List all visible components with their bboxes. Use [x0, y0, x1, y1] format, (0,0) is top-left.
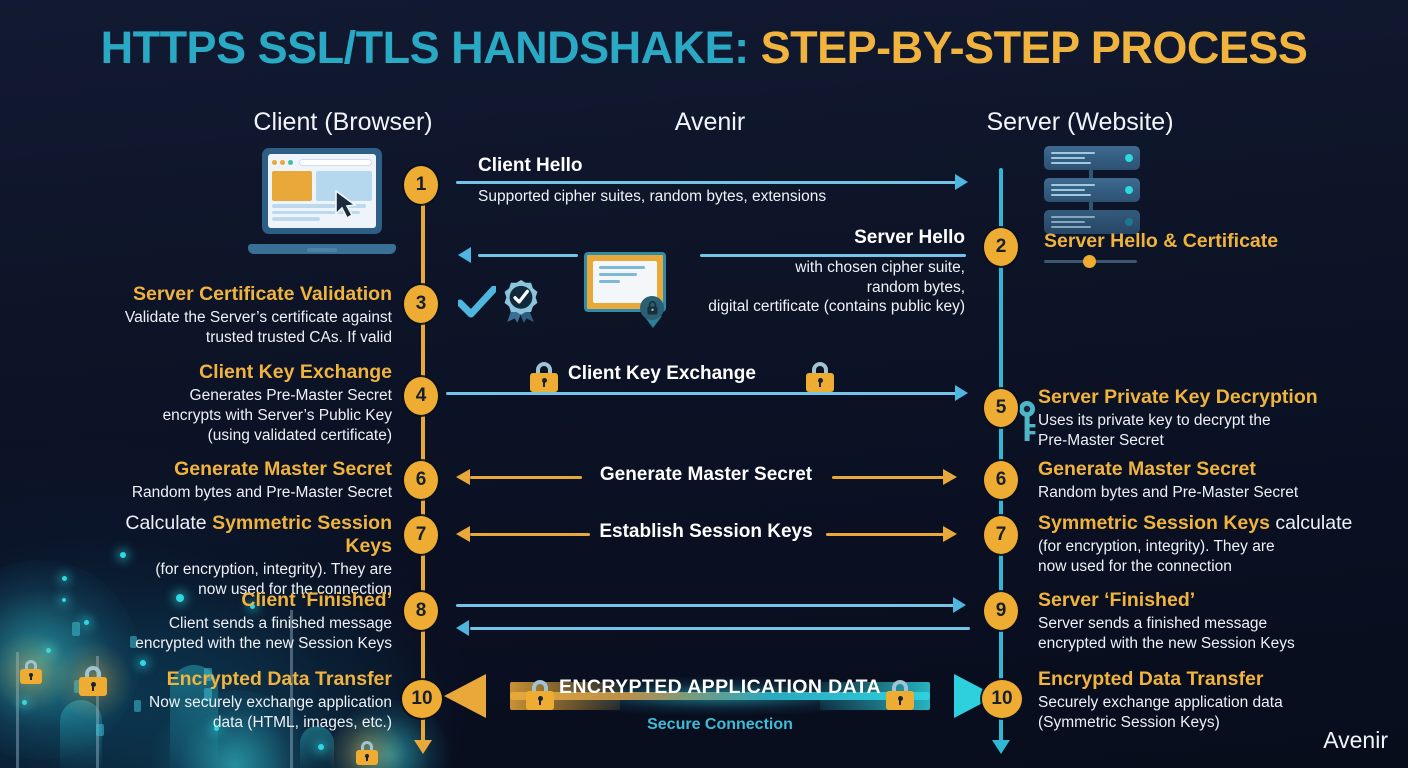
left-step-4-desc-2: encrypts with Server’s Public Key	[92, 406, 392, 426]
right-step-9-desc-2: encrypted with the new Session Keys	[1038, 634, 1368, 654]
title-part-1: HTTPS SSL/TLS HANDSHAKE:	[101, 22, 749, 73]
arrow-line-step-8	[456, 604, 956, 607]
arrow-head-step-4	[955, 385, 968, 401]
badge-step-4: 4	[404, 377, 438, 415]
badge-step-7-client: 7	[404, 516, 438, 554]
verified-badge-icon	[500, 278, 542, 324]
message-establish-session-keys-label: Establish Session Keys	[596, 522, 816, 543]
badge-step-10-client: 10	[402, 680, 442, 718]
message-client-hello: Client Hello	[478, 156, 978, 177]
server-caption-dot	[1083, 255, 1096, 268]
mouse-cursor-icon	[334, 190, 360, 220]
arrow-head-step-9	[456, 620, 469, 636]
message-client-hello-desc: Supported cipher suites, random bytes, e…	[478, 187, 998, 207]
left-step-7-title-accent: Symmetric Session Keys	[212, 512, 392, 557]
arrow-head-step-8	[953, 597, 966, 613]
certificate-icon	[584, 252, 666, 318]
arrow-line-step-4	[446, 392, 958, 395]
badge-step-6-server: 6	[984, 461, 1018, 499]
arrow-line-step-9	[470, 627, 970, 630]
left-step-3-desc-2: trusted trusted CAs. If valid	[92, 328, 392, 348]
arrow-head-step-6-left	[456, 469, 470, 485]
right-step-6-title: Generate Master Secret	[1038, 458, 1368, 481]
left-step-4-desc-3: (using validated certificate)	[92, 426, 392, 446]
left-step-symmetric-session-keys: Calculate Symmetric Session Keys (for en…	[92, 512, 392, 600]
right-step-7-title-suffix: calculate	[1270, 512, 1352, 534]
message-client-key-exchange: Client Key Exchange	[568, 364, 828, 385]
server-icon-caption: Server Hello & Certificate	[1044, 230, 1278, 253]
right-step-6-desc-1: Random bytes and Pre-Master Secret	[1038, 483, 1368, 503]
left-step-generate-master-secret: Generate Master Secret Random bytes and …	[92, 458, 392, 503]
right-step-5-desc-2: Pre-Master Secret	[1038, 431, 1368, 451]
badge-step-9: 9	[984, 592, 1018, 630]
arrow-line-step-2a	[478, 254, 578, 257]
badge-step-6-client: 6	[404, 461, 438, 499]
left-step-4-desc-1: Generates Pre-Master Secret	[92, 386, 392, 406]
arrow-line-step-7-right	[826, 533, 944, 536]
left-step-client-finished: Client ‘Finished’ Client sends a finishe…	[92, 589, 392, 654]
right-step-symmetric-session-keys: Symmetric Session Keys calculate (for en…	[1038, 512, 1368, 577]
arrow-head-step-2	[458, 247, 471, 263]
message-client-hello-label: Client Hello	[478, 156, 978, 177]
server-rack-icon	[1044, 146, 1140, 234]
left-step-6-title: Generate Master Secret	[92, 458, 392, 481]
private-key-icon	[1016, 400, 1038, 444]
badge-step-1: 1	[404, 166, 438, 204]
message-server-hello-label: Server Hello	[660, 228, 965, 249]
message-generate-master-secret: Generate Master Secret	[590, 465, 822, 486]
right-step-encrypted-data-transfer: Encrypted Data Transfer Securely exchang…	[1038, 668, 1368, 733]
badge-step-7-server: 7	[984, 516, 1018, 554]
column-header-server: Server (Website)	[890, 108, 1270, 137]
message-server-hello-desc-1: with chosen cipher suite,	[645, 258, 965, 278]
right-step-7-desc-1: (for encryption, integrity). They are	[1038, 537, 1368, 557]
decorative-lock-icon-1	[14, 655, 48, 689]
arrow-line-step-6-left	[470, 476, 582, 479]
left-step-3-title: Server Certificate Validation	[92, 283, 392, 306]
channel-label: ENCRYPTED APPLICATION DATA	[430, 676, 1010, 699]
right-step-10-desc-1: Securely exchange application data	[1038, 693, 1368, 713]
left-step-7-desc-1: (for encryption, integrity). They are	[92, 560, 392, 580]
badge-step-5: 5	[984, 389, 1018, 427]
arrow-line-step-7-left	[470, 533, 590, 536]
left-step-10-desc-2: data (HTML, images, etc.)	[92, 713, 392, 733]
left-step-8-desc-1: Client sends a finished message	[92, 614, 392, 634]
infographic-canvas: HTTPS SSL/TLS HANDSHAKE: STEP-BY-STEP PR…	[0, 0, 1408, 768]
left-step-8-title: Client ‘Finished’	[92, 589, 392, 612]
left-step-encrypted-data-transfer: Encrypted Data Transfer Now securely exc…	[92, 668, 392, 733]
badge-step-2: 2	[984, 228, 1018, 266]
right-step-9-desc-1: Server sends a finished message	[1038, 614, 1368, 634]
column-header-center: Avenir	[625, 108, 795, 137]
title-part-2: STEP-BY-STEP PROCESS	[761, 22, 1308, 73]
right-step-private-key-decryption: Server Private Key Decryption Uses its p…	[1038, 386, 1368, 451]
badge-step-3: 3	[404, 285, 438, 323]
message-generate-master-secret-label: Generate Master Secret	[590, 465, 822, 486]
right-step-server-finished: Server ‘Finished’ Server sends a finishe…	[1038, 589, 1368, 654]
brand-watermark: Avenir	[1323, 727, 1388, 754]
right-step-5-title: Server Private Key Decryption	[1038, 386, 1368, 409]
left-step-10-desc-1: Now securely exchange application	[92, 693, 392, 713]
left-step-10-title: Encrypted Data Transfer	[92, 668, 392, 691]
arrow-head-step-7-left	[456, 526, 470, 542]
message-client-key-exchange-label: Client Key Exchange	[568, 364, 828, 385]
right-step-10-title: Encrypted Data Transfer	[1038, 668, 1368, 691]
left-step-3-desc-1: Validate the Server’s certificate agains…	[92, 308, 392, 328]
client-timeline	[421, 168, 425, 746]
column-header-client: Client (Browser)	[248, 108, 438, 137]
right-step-9-title: Server ‘Finished’	[1038, 589, 1368, 612]
arrow-line-step-2b	[700, 254, 966, 257]
message-server-hello-desc-3: digital certificate (contains public key…	[645, 297, 965, 317]
right-step-5-desc-1: Uses its private key to decrypt the	[1038, 411, 1368, 431]
right-step-7-title-accent: Symmetric Session Keys	[1038, 512, 1270, 534]
badge-step-10-server: 10	[982, 680, 1022, 718]
arrow-head-step-7-right	[943, 526, 957, 542]
left-step-8-desc-2: encrypted with the new Session Keys	[92, 634, 392, 654]
arrow-head-step-6-right	[943, 469, 957, 485]
secure-connection-channel: ENCRYPTED APPLICATION DATA Secure Connec…	[430, 668, 1010, 752]
badge-step-8: 8	[404, 592, 438, 630]
message-establish-session-keys: Establish Session Keys	[596, 522, 816, 543]
right-step-10-desc-2: (Symmetric Session Keys)	[1038, 713, 1368, 733]
left-step-certificate-validation: Server Certificate Validation Validate t…	[92, 283, 392, 348]
left-step-4-title: Client Key Exchange	[92, 361, 392, 384]
lock-icon-key-exchange-left	[530, 362, 558, 392]
message-server-hello: Server Hello	[660, 228, 965, 249]
arrow-line-step-6-right	[832, 476, 944, 479]
certificate-lock-icon	[646, 301, 659, 315]
client-laptop-icon	[248, 148, 396, 260]
left-step-6-desc-1: Random bytes and Pre-Master Secret	[92, 483, 392, 503]
right-step-generate-master-secret: Generate Master Secret Random bytes and …	[1038, 458, 1368, 503]
validation-checkmark-icon	[458, 286, 496, 320]
left-step-client-key-exchange: Client Key Exchange Generates Pre-Master…	[92, 361, 392, 446]
channel-sublabel: Secure Connection	[430, 716, 1010, 734]
right-step-7-desc-2: now used for the connection	[1038, 557, 1368, 577]
arrow-line-step-1	[456, 181, 958, 184]
left-step-7-title-prefix: Calculate	[125, 512, 212, 534]
decorative-lock-icon-3	[350, 736, 384, 768]
page-title: HTTPS SSL/TLS HANDSHAKE: STEP-BY-STEP PR…	[0, 22, 1408, 74]
message-server-hello-desc-2: random bytes,	[645, 278, 965, 298]
lock-icon-key-exchange-right	[806, 362, 834, 392]
